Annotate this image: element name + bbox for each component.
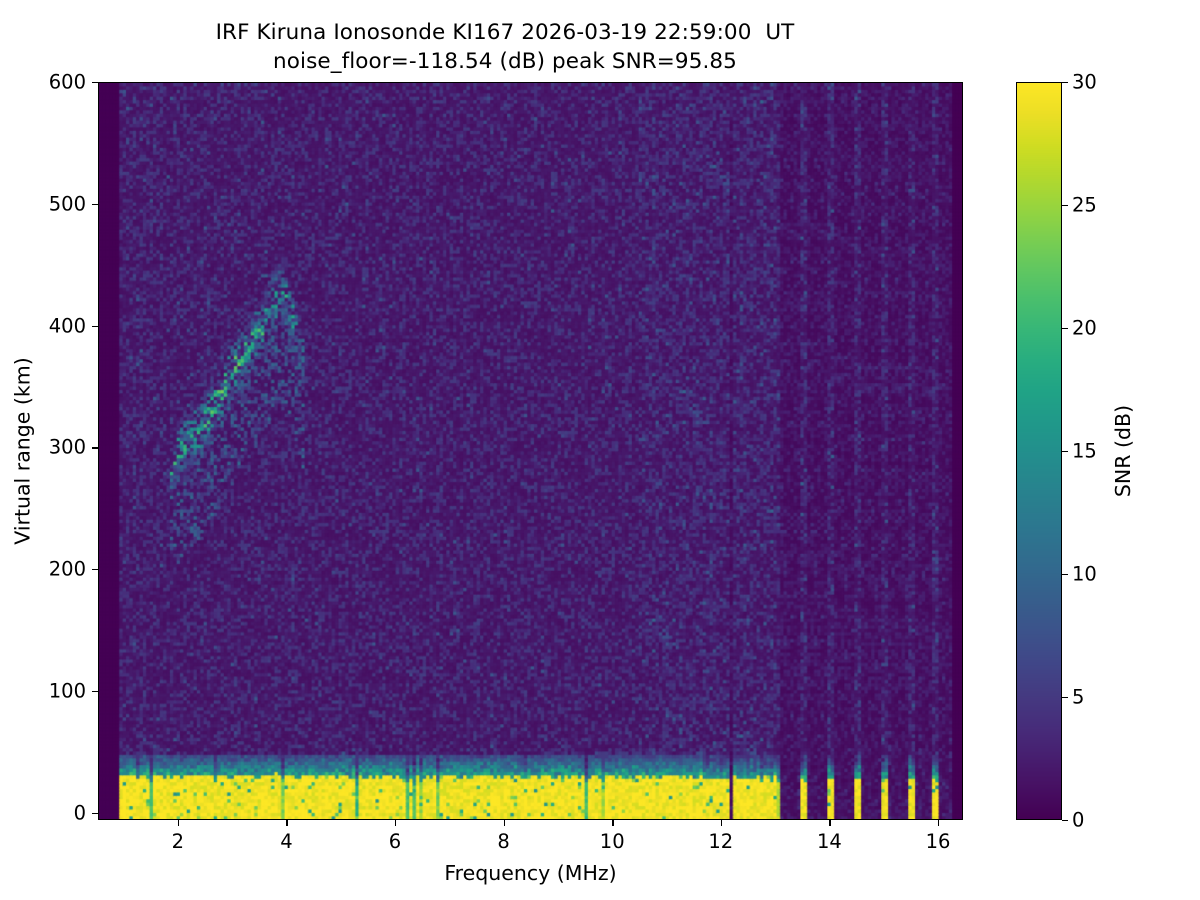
x-tick-mark [829,820,830,826]
ionogram-heatmap [99,83,962,819]
y-axis-label: Virtual range (km) [10,82,36,820]
colorbar-tick-label: 0 [1072,809,1084,832]
x-tick-label: 4 [280,830,292,853]
title-line-primary: IRF Kiruna Ionosonde KI167 2026-03-19 22… [0,18,1010,47]
y-tick-mark [92,326,98,327]
colorbar-tick-label: 10 [1072,563,1097,586]
colorbar-tick-label: 25 [1072,194,1097,217]
y-tick-label: 400 [49,314,86,337]
y-tick-label: 0 [74,801,86,824]
colorbar-tick-label: 15 [1072,440,1097,463]
colorbar[interactable] [1016,82,1062,820]
y-tick-mark [92,447,98,448]
y-axis-label-text: Virtual range (km) [11,357,35,544]
x-axis-label: Frequency (MHz) [98,861,963,885]
x-tick-label: 10 [600,830,625,853]
y-tick-mark [92,569,98,570]
y-tick-mark [92,82,98,83]
x-tick-mark [612,820,613,826]
figure-title: IRF Kiruna Ionosonde KI167 2026-03-19 22… [0,18,1010,76]
colorbar-label-text: SNR (dB) [1111,405,1135,497]
ionogram-figure: IRF Kiruna Ionosonde KI167 2026-03-19 22… [0,0,1200,900]
colorbar-tick-mark [1062,820,1068,821]
x-tick-label: 2 [172,830,184,853]
title-line-secondary: noise_floor=-118.54 (dB) peak SNR=95.85 [0,47,1010,76]
y-tick-label: 500 [49,192,86,215]
x-tick-label: 14 [817,830,842,853]
y-tick-mark [92,813,98,814]
colorbar-tick-label: 5 [1072,686,1084,709]
x-tick-mark [504,820,505,826]
y-tick-label: 100 [49,679,86,702]
y-tick-label: 300 [49,436,86,459]
ionogram-plot-area[interactable] [98,82,963,820]
x-tick-mark [178,820,179,826]
x-tick-mark [286,820,287,826]
x-tick-label: 8 [497,830,509,853]
y-tick-label: 200 [49,558,86,581]
colorbar-tick-mark [1062,328,1068,329]
x-tick-label: 16 [926,830,951,853]
y-tick-label: 600 [49,71,86,94]
colorbar-gradient [1016,82,1062,820]
x-tick-mark [395,820,396,826]
colorbar-tick-mark [1062,697,1068,698]
y-tick-mark [92,691,98,692]
y-tick-mark [92,204,98,205]
x-tick-label: 12 [708,830,733,853]
x-tick-mark [721,820,722,826]
x-tick-label: 6 [389,830,401,853]
colorbar-tick-mark [1062,451,1068,452]
colorbar-tick-label: 30 [1072,71,1097,94]
colorbar-label: SNR (dB) [1110,82,1136,820]
colorbar-tick-mark [1062,574,1068,575]
colorbar-tick-label: 20 [1072,317,1097,340]
colorbar-tick-mark [1062,82,1068,83]
colorbar-tick-mark [1062,205,1068,206]
x-tick-mark [938,820,939,826]
